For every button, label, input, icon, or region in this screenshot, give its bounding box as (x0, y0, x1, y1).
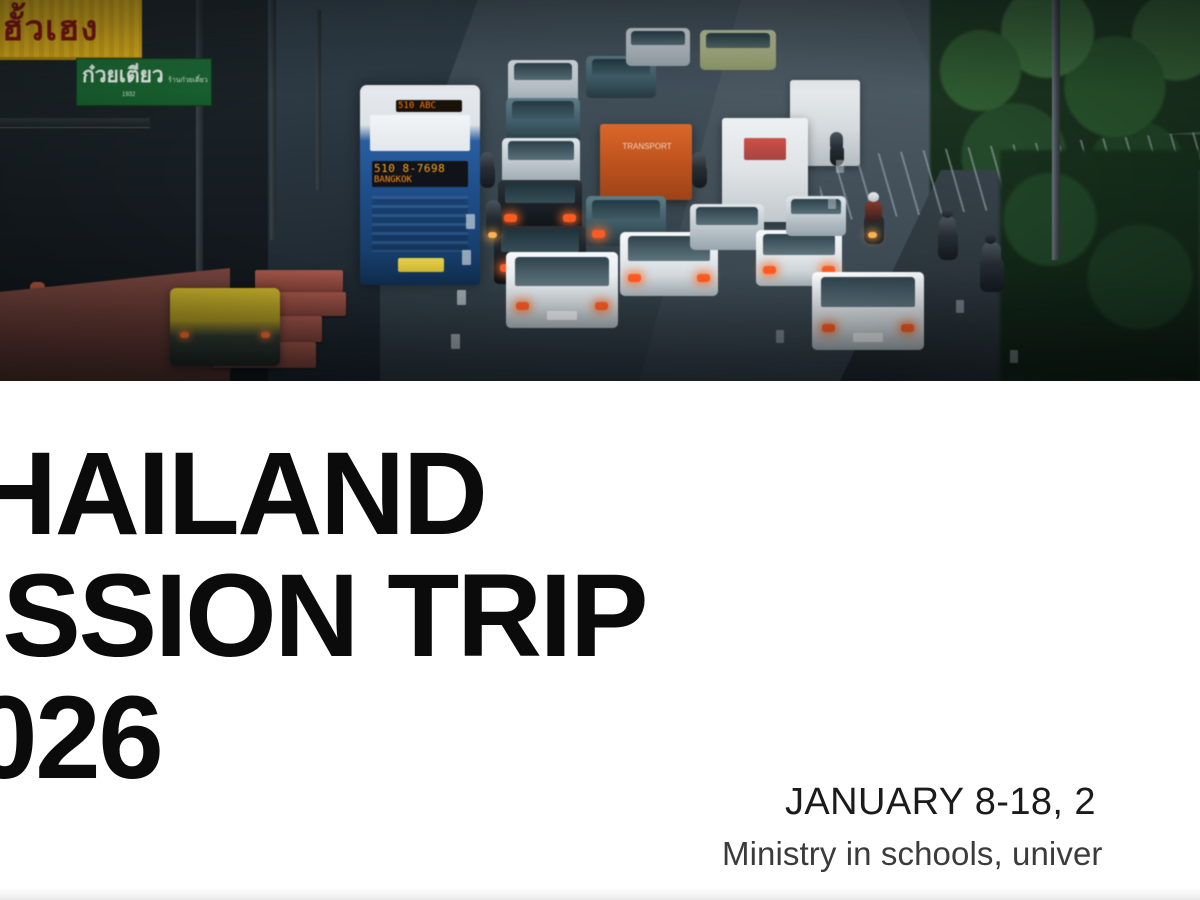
tail-light-left (763, 266, 776, 274)
car-window (508, 141, 574, 159)
shop-sign-green-year: 1932 (122, 92, 135, 98)
bus-led-line-2: BANGKOK (374, 175, 466, 185)
car-far-right-3 (786, 196, 846, 236)
motorcycle-rider (480, 152, 494, 170)
headline-line-2: ISSION TRIP (0, 555, 1200, 677)
lane-dash (776, 330, 784, 343)
car-window (512, 101, 574, 118)
taxi-vehicle (170, 288, 280, 366)
tail-light-right (901, 324, 914, 332)
tail-light-left (822, 324, 835, 332)
foliage-right-lower (1000, 150, 1200, 381)
bottom-edge-shadow (0, 888, 1200, 900)
poster-canvas: ฮั้วเฮง ก๋วยเตี๋ยว ร้านก๋วยเตี๋ยว 1932 5… (0, 0, 1200, 900)
car-center-4 (498, 180, 582, 232)
lane-dash (836, 160, 844, 173)
car-far-right-2 (812, 272, 924, 350)
car-window (696, 207, 758, 224)
license-plate (853, 333, 883, 342)
car-window (592, 200, 659, 219)
tail-light-right (595, 302, 608, 310)
car-right-5 (690, 204, 764, 250)
car-window (505, 184, 576, 204)
poster-text-area: HAILAND ISSION TRIP 026 JANUARY 8-18, 2 … (0, 381, 1200, 900)
bus-led-line-1: 510 8-7698 (374, 163, 466, 174)
bus-rear-grill (372, 196, 468, 252)
tail-light-left (592, 230, 605, 238)
car-right-2 (626, 28, 690, 66)
motorcycle-rider (982, 242, 1001, 266)
car-window (821, 277, 915, 307)
car-window (706, 33, 770, 48)
orange-box-truck (600, 124, 692, 200)
page-title: HAILAND ISSION TRIP 026 (0, 433, 1200, 799)
taxi-tail-light (180, 332, 189, 338)
motorcycle-rider (486, 200, 501, 219)
lane-dash (457, 290, 466, 305)
tail-light-left (628, 274, 641, 282)
car-greenish (700, 30, 776, 70)
motorcycle-headlight (868, 232, 877, 238)
bus-led-sign-top-text: 510 ABC (398, 101, 460, 111)
trip-date-line: JANUARY 8-18, 2 (785, 782, 1200, 822)
white-truck-logo (744, 138, 786, 160)
car-window (501, 230, 578, 252)
motorcycle-headlight (488, 232, 497, 238)
motorcycle-rider (692, 152, 706, 170)
taxi-tail-light-right (261, 332, 270, 338)
license-plate (547, 311, 577, 320)
tail-light-right (697, 274, 710, 282)
motorcycle-rider (865, 200, 882, 222)
tail-light-right (563, 214, 576, 222)
car-window (763, 234, 835, 255)
headline-line-3: 026 (0, 677, 1200, 799)
headline-line-1: HAILAND (0, 433, 1200, 555)
awning (0, 118, 150, 128)
lane-dash (828, 196, 836, 209)
utility-pole-2 (270, 0, 276, 240)
car-window (514, 63, 573, 80)
shop-sign-yellow-text: ฮั้วเฮง (2, 2, 142, 56)
lamp-post (1052, 0, 1060, 260)
car-center-3 (502, 138, 580, 186)
helmet-icon (868, 192, 879, 202)
helmet-icon (942, 208, 953, 218)
motorcycle-rider (830, 132, 843, 149)
orange-truck-text: TRANSPORT (612, 142, 682, 151)
shop-sign-green-subtext: ร้านก๋วยเตี๋ยว (168, 76, 212, 84)
utility-pole-1 (196, 0, 203, 300)
lane-dash (956, 300, 964, 313)
hero-photo: ฮั้วเฮง ก๋วยเตี๋ยว ร้านก๋วยเตี๋ยว 1932 5… (0, 0, 1200, 381)
tail-light-left (504, 214, 517, 222)
car-center-foreground-white (506, 252, 618, 328)
bus-windshield (370, 115, 470, 151)
tail-light-left (516, 302, 529, 310)
lane-dash (466, 214, 475, 229)
car-window (515, 257, 609, 286)
motorcycle-rider (939, 216, 956, 238)
utility-pole-3 (316, 10, 321, 190)
lane-dash (451, 334, 460, 349)
helmet-icon (985, 234, 996, 244)
bus-license-plate (398, 258, 444, 272)
lane-dash (462, 250, 471, 265)
car-window (631, 31, 685, 45)
lane-dash (1010, 350, 1018, 363)
trip-description-line: Ministry in schools, univer (722, 836, 1200, 872)
